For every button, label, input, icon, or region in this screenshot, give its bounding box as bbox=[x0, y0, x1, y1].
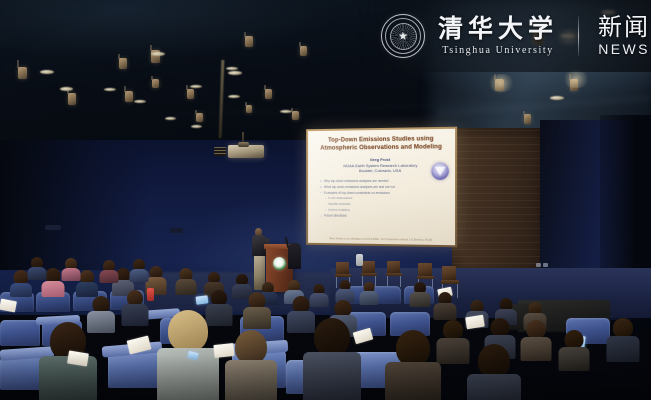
projection-screen: Top-Down Emissions Studies using Atmosph… bbox=[308, 129, 455, 246]
slide-affiliation-line2: Boulder, Colorado, USA bbox=[315, 168, 448, 174]
wall-speaker bbox=[45, 225, 61, 230]
slide-bullet-sub: Inverse modeling bbox=[321, 208, 445, 213]
slide-footer: Many thanks to my colleagues at NOAA ESR… bbox=[308, 237, 455, 243]
institutional-crest-icon bbox=[273, 257, 286, 270]
water-bottle bbox=[147, 288, 154, 301]
slide-bullet-sub: Satellite retrievals bbox=[321, 202, 445, 207]
ceiling-light-disc bbox=[550, 96, 564, 100]
wall-speaker bbox=[170, 228, 183, 233]
wall-shadow-left bbox=[0, 140, 150, 270]
ceiling-light-disc bbox=[151, 52, 165, 56]
university-name-block: 清华大学 Tsinghua University bbox=[438, 16, 558, 57]
ceiling-light-disc bbox=[134, 100, 146, 103]
ceiling-light-disc bbox=[40, 70, 54, 74]
ceiling-light-disc bbox=[190, 85, 202, 88]
audience-member bbox=[410, 282, 429, 306]
wall-wood-panel bbox=[452, 128, 544, 278]
university-name-cn: 清华大学 bbox=[438, 16, 558, 43]
wall-outlet bbox=[543, 263, 548, 267]
cup bbox=[356, 254, 363, 266]
university-name-en: Tsinghua University bbox=[438, 44, 558, 57]
noaa-seal-icon bbox=[431, 163, 448, 180]
audience-member bbox=[176, 268, 196, 294]
ceiling-light-disc bbox=[226, 67, 238, 70]
section-name-cn: 新闻 bbox=[598, 15, 650, 40]
projection-screen-frame: Top-Down Emissions Studies using Atmosph… bbox=[306, 127, 457, 248]
seat bbox=[108, 352, 160, 388]
audience-member bbox=[244, 292, 270, 326]
audience-member bbox=[62, 258, 80, 280]
news-watermark-header: 清华大学 Tsinghua University 新闻 NEWS bbox=[359, 0, 651, 72]
audience-member bbox=[100, 260, 118, 282]
wall-outlet bbox=[536, 263, 541, 267]
slide-title-line2: Atmospheric Observations and Modeling bbox=[315, 143, 448, 153]
slide-bullet-list: Why top-down emissions analyses are need… bbox=[315, 179, 448, 220]
audience-member bbox=[336, 280, 354, 302]
tablet-screen bbox=[196, 295, 209, 304]
slide-bullet: Future directions bbox=[321, 214, 445, 220]
section-name-block: 新闻 NEWS bbox=[598, 15, 650, 57]
audience-member bbox=[560, 330, 588, 368]
slide-bullet-sub: In situ observations bbox=[321, 196, 445, 201]
audience-member-foreground bbox=[470, 344, 518, 400]
ceiling-light-disc bbox=[280, 110, 292, 113]
slide-bullet: Examples of top-down constraints on emis… bbox=[321, 191, 445, 196]
audience-member-foreground bbox=[388, 330, 438, 400]
audience-member-foreground bbox=[306, 318, 358, 400]
audience-member bbox=[122, 290, 147, 324]
ceiling-light-disc bbox=[60, 87, 73, 91]
light-glow bbox=[486, 74, 516, 92]
audience-member bbox=[608, 318, 638, 358]
handout-paper bbox=[213, 343, 234, 358]
seated-person-on-stage bbox=[288, 243, 301, 269]
watermark-divider bbox=[578, 16, 579, 56]
light-glow bbox=[561, 70, 591, 88]
audience-member bbox=[438, 320, 468, 360]
ceiling-light-disc bbox=[228, 71, 242, 75]
projector-mount bbox=[238, 142, 249, 147]
slide-title: Top-Down Emissions Studies using Atmosph… bbox=[315, 135, 448, 153]
ceiling-light-disc bbox=[165, 117, 176, 120]
audience-member bbox=[130, 259, 148, 281]
ceiling-light-disc bbox=[104, 88, 116, 91]
projector-vents bbox=[214, 147, 226, 156]
audience-member-foreground bbox=[228, 330, 274, 400]
ceiling-light-disc bbox=[228, 95, 240, 98]
slide-bullet: What top-down emissions analyses are and… bbox=[321, 185, 445, 190]
audience-member bbox=[360, 282, 378, 304]
ceiling-light-disc bbox=[191, 125, 202, 128]
lecture-hall-photo: Top-Down Emissions Studies using Atmosph… bbox=[0, 0, 651, 400]
tsinghua-seal-icon bbox=[381, 14, 425, 58]
audience-member bbox=[28, 257, 46, 279]
audience-member bbox=[522, 320, 550, 358]
slide-bullet: Why top-down emissions analyses are need… bbox=[321, 179, 445, 184]
audience-member bbox=[434, 292, 455, 318]
slide-byline: Greg Frost NOAA Earth System Research La… bbox=[315, 156, 448, 174]
seat bbox=[0, 320, 40, 346]
section-name-en: NEWS bbox=[598, 41, 650, 57]
seal-star-icon bbox=[399, 32, 408, 41]
